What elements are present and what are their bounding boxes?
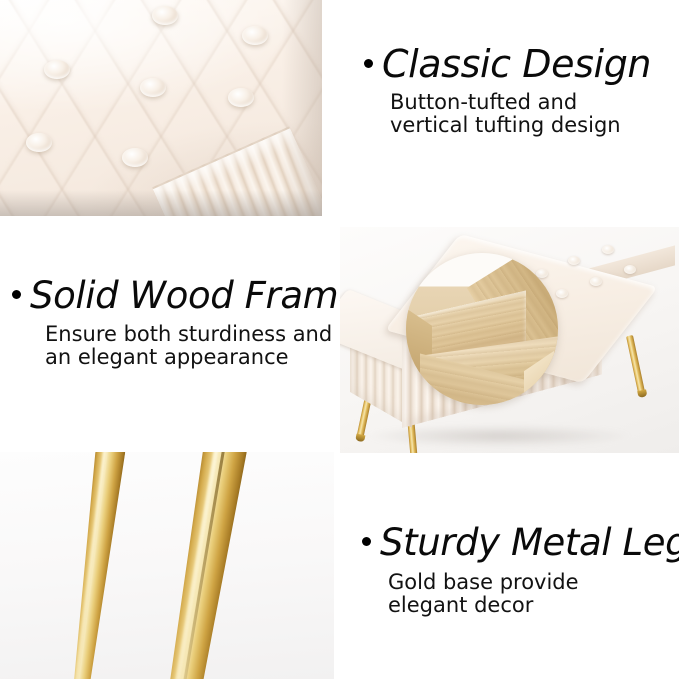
feature-title: Sturdy Metal Legs bbox=[380, 523, 679, 563]
fabric-floor-shadow bbox=[0, 190, 322, 216]
bullet-dot-icon bbox=[362, 537, 371, 546]
tuft-button bbox=[568, 256, 580, 265]
gold-metal-leg bbox=[58, 452, 126, 679]
tuft-button bbox=[122, 148, 148, 167]
tufted-fabric-closeup-image bbox=[0, 0, 322, 216]
tuft-button bbox=[590, 277, 602, 286]
bullet-dot-icon bbox=[364, 59, 373, 68]
bullet-dot-icon bbox=[12, 290, 21, 299]
tuft-button bbox=[152, 6, 178, 25]
feature-description: Gold base provide elegant decor bbox=[388, 571, 679, 617]
feature-classic-design: Classic Design Button-tufted and vertica… bbox=[364, 44, 651, 137]
feature-title: Classic Design bbox=[382, 44, 651, 84]
tuft-button bbox=[44, 60, 70, 79]
gold-metal-leg bbox=[119, 452, 248, 679]
feature-description: Button-tufted and vertical tufting desig… bbox=[390, 91, 651, 137]
tuft-button bbox=[140, 78, 166, 97]
gold-legs-closeup-image bbox=[0, 452, 334, 679]
wood-frame-callout-circle bbox=[406, 253, 558, 405]
bench-floor-shadow bbox=[364, 425, 634, 447]
feature-description: Ensure both sturdiness and an elegant ap… bbox=[45, 323, 361, 369]
tuft-button bbox=[242, 26, 268, 45]
tuft-button bbox=[26, 133, 52, 152]
feature-title: Solid Wood Frame bbox=[30, 276, 361, 316]
feature-heading: Classic Design bbox=[364, 44, 651, 84]
feature-heading: Solid Wood Frame bbox=[12, 276, 361, 316]
bench-leg bbox=[626, 335, 645, 393]
tuft-button bbox=[602, 245, 614, 254]
leg-shaft bbox=[58, 452, 126, 679]
fabric-edge-shadow bbox=[282, 0, 322, 216]
tuft-button bbox=[624, 265, 636, 274]
bench-with-wood-callout-image bbox=[340, 227, 679, 453]
feature-heading: Sturdy Metal Legs bbox=[362, 523, 679, 563]
feature-solid-wood-frame: Solid Wood Frame Ensure both sturdiness … bbox=[12, 276, 361, 369]
tuft-button bbox=[228, 88, 254, 107]
feature-sturdy-metal-legs: Sturdy Metal Legs Gold base provide eleg… bbox=[362, 523, 679, 617]
